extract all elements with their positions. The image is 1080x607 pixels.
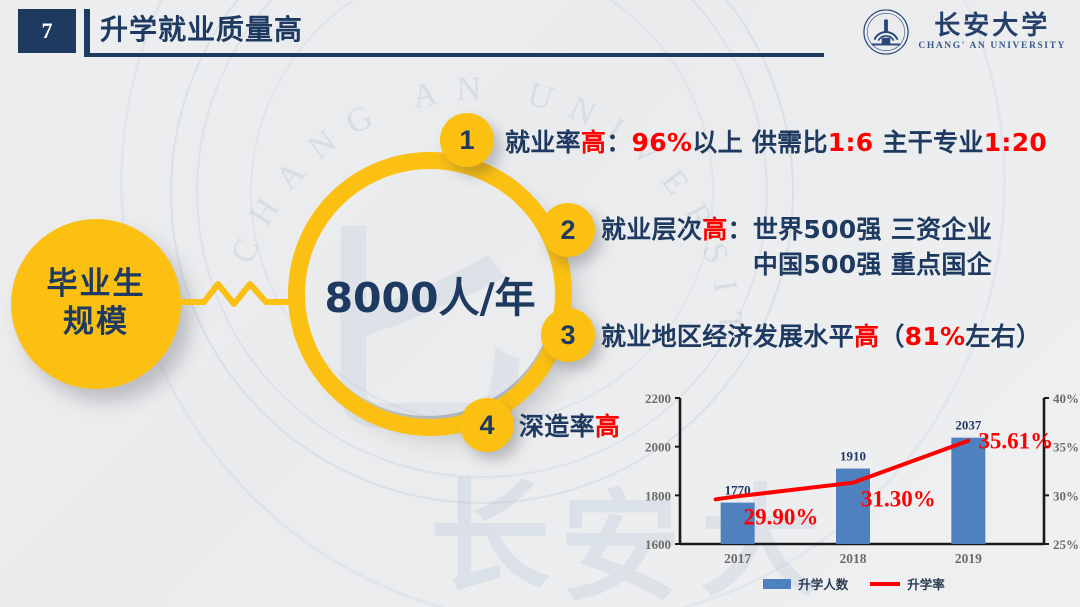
bullet-4-seg-2: 高 (595, 412, 620, 441)
bullet-1-seg-7: 主干专业 (874, 128, 984, 157)
page-title: 升学就业质量高 (100, 8, 303, 52)
bullet-number-2[interactable]: 2 (541, 203, 595, 257)
svg-text:1800: 1800 (645, 488, 671, 503)
enrollment-chart: 160018002000220025%30%35%40%177020171910… (628, 386, 1080, 604)
bubble-line-2: 规模 (63, 304, 129, 342)
svg-text:30%: 30% (1053, 488, 1079, 503)
bullet-1-seg-4: 96% (632, 128, 693, 157)
svg-text:2000: 2000 (645, 440, 671, 455)
graduate-scale-bubble: 毕业生 规模 (11, 219, 181, 389)
bullet-number-1[interactable]: 1 (440, 113, 494, 167)
university-logo: 长安大学 CHANG' AN UNIVERSITY (848, 6, 1066, 58)
legend-item-line: 升学率 (870, 574, 945, 593)
bullet-3-seg-4: 81% (905, 322, 966, 351)
svg-text:31.30%: 31.30% (861, 487, 936, 512)
bullet-4-seg-1: 深造率 (519, 412, 595, 441)
bullet-3-seg-1: 就业地区经济发展水平 (601, 322, 854, 351)
zigzag-connector-icon (176, 272, 294, 318)
legend-label-line: 升学率 (907, 574, 945, 593)
bullet-2-line-2: 中国500强 重点国企 (601, 248, 992, 283)
legend-label-bars: 升学人数 (798, 574, 848, 593)
bullet-1-seg-8: 1:20 (984, 128, 1047, 157)
svg-text:1910: 1910 (840, 449, 866, 464)
ring-center-label: 8000人/年 (288, 152, 572, 436)
bullet-number-3[interactable]: 3 (541, 308, 595, 362)
watermark-glyph-chang: 长 (430, 440, 550, 607)
logo-name-en: CHANG' AN UNIVERSITY (918, 41, 1066, 51)
svg-text:2019: 2019 (955, 551, 982, 566)
logo-name-cn: 长安大学 (934, 13, 1050, 40)
bullet-1-seg-1: 就业率 (505, 128, 581, 157)
legend-swatch-bar-icon (763, 579, 791, 589)
bullet-1-seg-2: 高 (581, 128, 606, 157)
svg-text:2018: 2018 (840, 551, 867, 566)
slide-header: 7 升学就业质量高 长安大学 CHANG' AN UNIVERSITY (0, 0, 1080, 62)
chart-svg: 160018002000220025%30%35%40%177020171910… (628, 386, 1080, 576)
bullet-2-seg-2: 高 (702, 215, 727, 244)
bullet-text-4: 深造率高 (519, 410, 620, 445)
legend-swatch-line-icon (870, 582, 900, 586)
section-number-badge: 7 (18, 9, 76, 53)
slide-canvas: CHANG AN UNIVERSITY 匕 长 安 大 7 升学就业质量高 长安… (0, 0, 1080, 607)
header-divider-bar (84, 9, 90, 53)
svg-text:2200: 2200 (645, 391, 671, 406)
svg-text:35%: 35% (1053, 440, 1079, 455)
svg-text:2017: 2017 (724, 551, 751, 566)
header-underline (84, 53, 824, 57)
bullet-1-seg-3: ： (606, 128, 631, 157)
bullet-3-seg-2: 高 (854, 322, 879, 351)
bullet-number-4[interactable]: 4 (460, 398, 514, 452)
svg-text:29.90%: 29.90% (744, 504, 819, 529)
bullet-text-3: 就业地区经济发展水平高（81%左右） (601, 320, 1041, 355)
chart-legend: 升学人数 升学率 (628, 574, 1080, 593)
svg-text:25%: 25% (1053, 537, 1079, 552)
legend-item-bars: 升学人数 (763, 574, 848, 593)
svg-text:35.61%: 35.61% (978, 429, 1053, 454)
bullet-3-seg-5: 左右） (965, 322, 1041, 351)
svg-text:40%: 40% (1053, 391, 1079, 406)
bullet-2-seg-3: ：世界500强 三资企业 (728, 215, 993, 244)
university-emblem-icon (862, 8, 910, 56)
bullet-1-seg-6: 1:6 (828, 128, 874, 157)
bullet-1-seg-5: 以上 供需比 (692, 128, 828, 157)
bullet-text-1: 就业率高：96%以上 供需比1:6 主干专业1:20 (505, 126, 1047, 161)
bullet-text-2: 就业层次高：世界500强 三资企业 中国500强 重点国企 (601, 213, 992, 282)
bubble-line-1: 毕业生 (47, 266, 146, 304)
bullet-2-seg-1: 就业层次 (601, 215, 702, 244)
bullet-3-seg-3: （ (879, 322, 904, 351)
svg-text:1600: 1600 (645, 537, 671, 552)
